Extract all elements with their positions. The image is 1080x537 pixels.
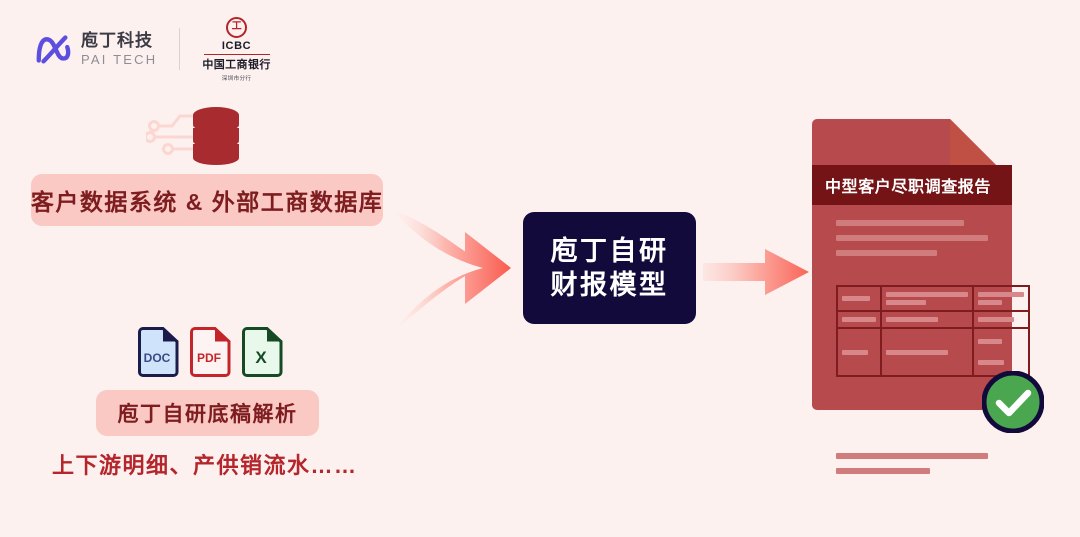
model-callout-line-2: 财报模型 <box>551 271 669 299</box>
cell-placeholder-bar <box>978 292 1024 297</box>
cell-placeholder-bar <box>978 300 1002 305</box>
parsing-badge-label: 庖丁自研底稿解析 <box>118 398 298 428</box>
table-cell <box>973 328 1029 376</box>
pai-tech-wordmark: 庖丁科技 PAI TECH <box>81 32 157 66</box>
model-callout-line-1: 庖丁自研 <box>551 237 669 265</box>
file-type-icons: DOC PDF X <box>137 327 283 377</box>
pai-tech-monogram-icon <box>34 30 72 68</box>
report-text-line <box>836 468 930 474</box>
icbc-name-cn: 中国工商银行 <box>202 56 270 72</box>
report-body-lines-top <box>836 220 988 265</box>
svg-text:PDF: PDF <box>197 351 221 365</box>
report-text-line <box>836 250 937 256</box>
pai-tech-logo: 庖丁科技 PAI TECH <box>34 30 157 68</box>
cell-placeholder-bar <box>886 292 968 297</box>
cell-placeholder-bar <box>978 360 1004 365</box>
pai-tech-name-cn: 庖丁科技 <box>81 32 157 49</box>
curved-merge-arrow-icon <box>391 204 521 334</box>
icbc-seal-icon: 工 <box>226 17 247 38</box>
model-callout-box: 庖丁自研 财报模型 <box>523 212 696 324</box>
report-text-line <box>836 220 964 226</box>
report-title: 中型客户尽职调查报告 <box>825 173 991 197</box>
infographic-canvas: 庖丁科技 PAI TECH 工 ICBC 中国工商银行 深圳市分行 <box>0 0 1080 537</box>
table-cell <box>837 328 881 376</box>
report-document: 中型客户尽职调查报告 <box>812 119 1012 410</box>
cell-placeholder-bar <box>842 317 876 322</box>
logo-divider <box>179 28 180 70</box>
excel-file-icon: X <box>241 327 283 377</box>
icbc-name-en: ICBC <box>222 40 251 52</box>
cell-placeholder-bar <box>886 350 948 355</box>
data-source-badge-label: 客户数据系统 & 外部工商数据库 <box>31 183 383 217</box>
report-text-line <box>836 453 988 459</box>
table-cell <box>881 311 973 328</box>
right-arrow-icon <box>703 246 811 298</box>
table-cell <box>973 286 1029 311</box>
pdf-file-icon: PDF <box>189 327 231 377</box>
cell-placeholder-bar <box>978 339 1002 344</box>
table-cell <box>881 286 973 311</box>
table-cell <box>973 311 1029 328</box>
icbc-logo: 工 ICBC 中国工商银行 深圳市分行 <box>202 17 270 82</box>
pai-tech-name-en: PAI TECH <box>81 53 157 66</box>
database-stack-icon <box>146 104 244 170</box>
cell-placeholder-bar <box>978 317 1014 322</box>
icbc-rule <box>204 54 270 55</box>
check-circle-icon <box>982 371 1044 433</box>
report-table <box>836 285 1030 377</box>
svg-text:DOC: DOC <box>144 351 171 365</box>
cell-placeholder-bar <box>842 296 870 301</box>
table-cell <box>881 328 973 376</box>
cell-placeholder-bar <box>842 350 868 355</box>
report-body-lines-bottom <box>836 453 988 483</box>
icbc-branch-name: 深圳市分行 <box>222 73 251 82</box>
table-cell <box>837 311 881 328</box>
table-cell <box>837 286 881 311</box>
source-caption: 上下游明细、产供销流水…… <box>52 448 358 480</box>
data-source-badge: 客户数据系统 & 外部工商数据库 <box>31 174 383 226</box>
table-row <box>837 286 1029 311</box>
report-title-bar: 中型客户尽职调查报告 <box>812 165 1012 205</box>
table-row <box>837 311 1029 328</box>
parsing-badge: 庖丁自研底稿解析 <box>96 390 319 436</box>
cell-placeholder-bar <box>886 300 926 305</box>
doc-file-icon: DOC <box>137 327 179 377</box>
brand-header: 庖丁科技 PAI TECH 工 ICBC 中国工商银行 深圳市分行 <box>34 18 271 80</box>
svg-text:X: X <box>255 348 267 367</box>
report-text-line <box>836 235 988 241</box>
table-row <box>837 328 1029 376</box>
cell-placeholder-bar <box>886 317 938 322</box>
